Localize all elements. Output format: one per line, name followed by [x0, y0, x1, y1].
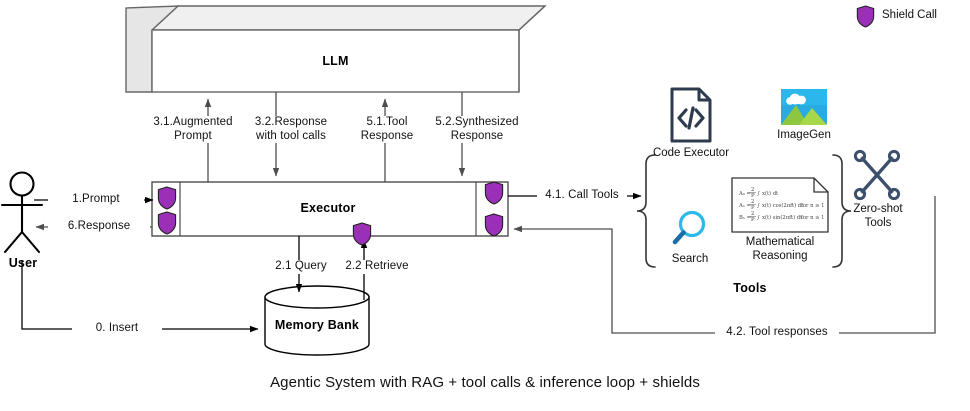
user-label: User	[0, 256, 46, 270]
svg-text:x(t) sin(2πft) dt: x(t) sin(2πft) dt	[762, 214, 803, 221]
code-executor-label: Code Executor	[645, 146, 737, 160]
svg-text:Bₙ =: Bₙ =	[739, 215, 751, 221]
zero-shot-tools-label: Zero-shot Tools	[840, 202, 916, 230]
flow-label-1-prompt: 1.Prompt	[48, 193, 144, 207]
diagram-caption: Agentic System with RAG + tool calls & i…	[0, 374, 970, 391]
svg-text:for n ≥ 1: for n ≥ 1	[801, 203, 824, 209]
flow-label-4-2-tool-responses: 4.2. Tool responses	[715, 326, 839, 340]
code-executor-icon	[669, 87, 713, 148]
diagram-canvas: LLM Executor Memory Bank User Tools 1.Pr…	[0, 0, 970, 411]
imagegen-icon	[781, 89, 827, 130]
flow-label-3-2-response-with-tool-calls: 3.2.Response with tool calls	[233, 116, 349, 143]
shield-icon-response-out	[157, 211, 177, 240]
imagegen-label: ImageGen	[764, 128, 844, 142]
shield-icon-memory	[352, 222, 372, 251]
zero-shot-tools-icon	[850, 148, 904, 207]
flow-label-5-2-synthesized-response: 5.2.Synthesized Response	[423, 116, 531, 143]
flow-label-5-1-tool-response: 5.1.Tool Response	[344, 116, 430, 143]
shield-icon-tool-responses	[484, 213, 504, 242]
svg-text:x(t) dt: x(t) dt	[762, 190, 779, 197]
tools-group-label: Tools	[700, 281, 800, 295]
svg-text:∫: ∫	[757, 191, 760, 197]
svg-text:∫: ∫	[757, 215, 760, 221]
memory-bank-label: Memory Bank	[265, 318, 369, 332]
executor-label: Executor	[180, 201, 476, 215]
svg-text:for n ≥ 1: for n ≥ 1	[801, 215, 824, 221]
svg-text:A₀ =: A₀ =	[738, 191, 751, 197]
mathematical-reasoning-icon: A₀ = 2P ∫x(t) dt Aₙ = 2P ∫x(t) cos(2πft)…	[731, 177, 829, 238]
flow-0-insert	[22, 261, 258, 329]
flow-label-6-response: 6.Response	[48, 220, 150, 234]
shield-icon-call-tools	[484, 181, 504, 210]
flow-label-4-1-call-tools: 4.1. Call Tools	[537, 189, 627, 203]
llm-label: LLM	[152, 54, 519, 68]
llm-node	[126, 6, 545, 92]
search-icon	[670, 209, 710, 254]
svg-text:x(t) cos(2πft) dt: x(t) cos(2πft) dt	[762, 202, 804, 209]
flow-label-0-insert: 0. Insert	[72, 322, 162, 336]
search-label: Search	[654, 252, 726, 266]
legend-shield-label: Shield Call	[882, 9, 937, 21]
legend-shield-icon	[856, 5, 875, 33]
flow-label-2-2-retrieve: 2.2 Retrieve	[330, 260, 424, 274]
svg-text:Aₙ =: Aₙ =	[738, 203, 751, 209]
user-actor	[2, 173, 42, 253]
svg-text:P: P	[751, 217, 755, 223]
flow-label-3-1-augmented-prompt: 3.1.Augmented Prompt	[145, 116, 241, 143]
mathematical-reasoning-label: Mathematical Reasoning	[722, 235, 838, 263]
svg-text:∫: ∫	[757, 203, 760, 209]
